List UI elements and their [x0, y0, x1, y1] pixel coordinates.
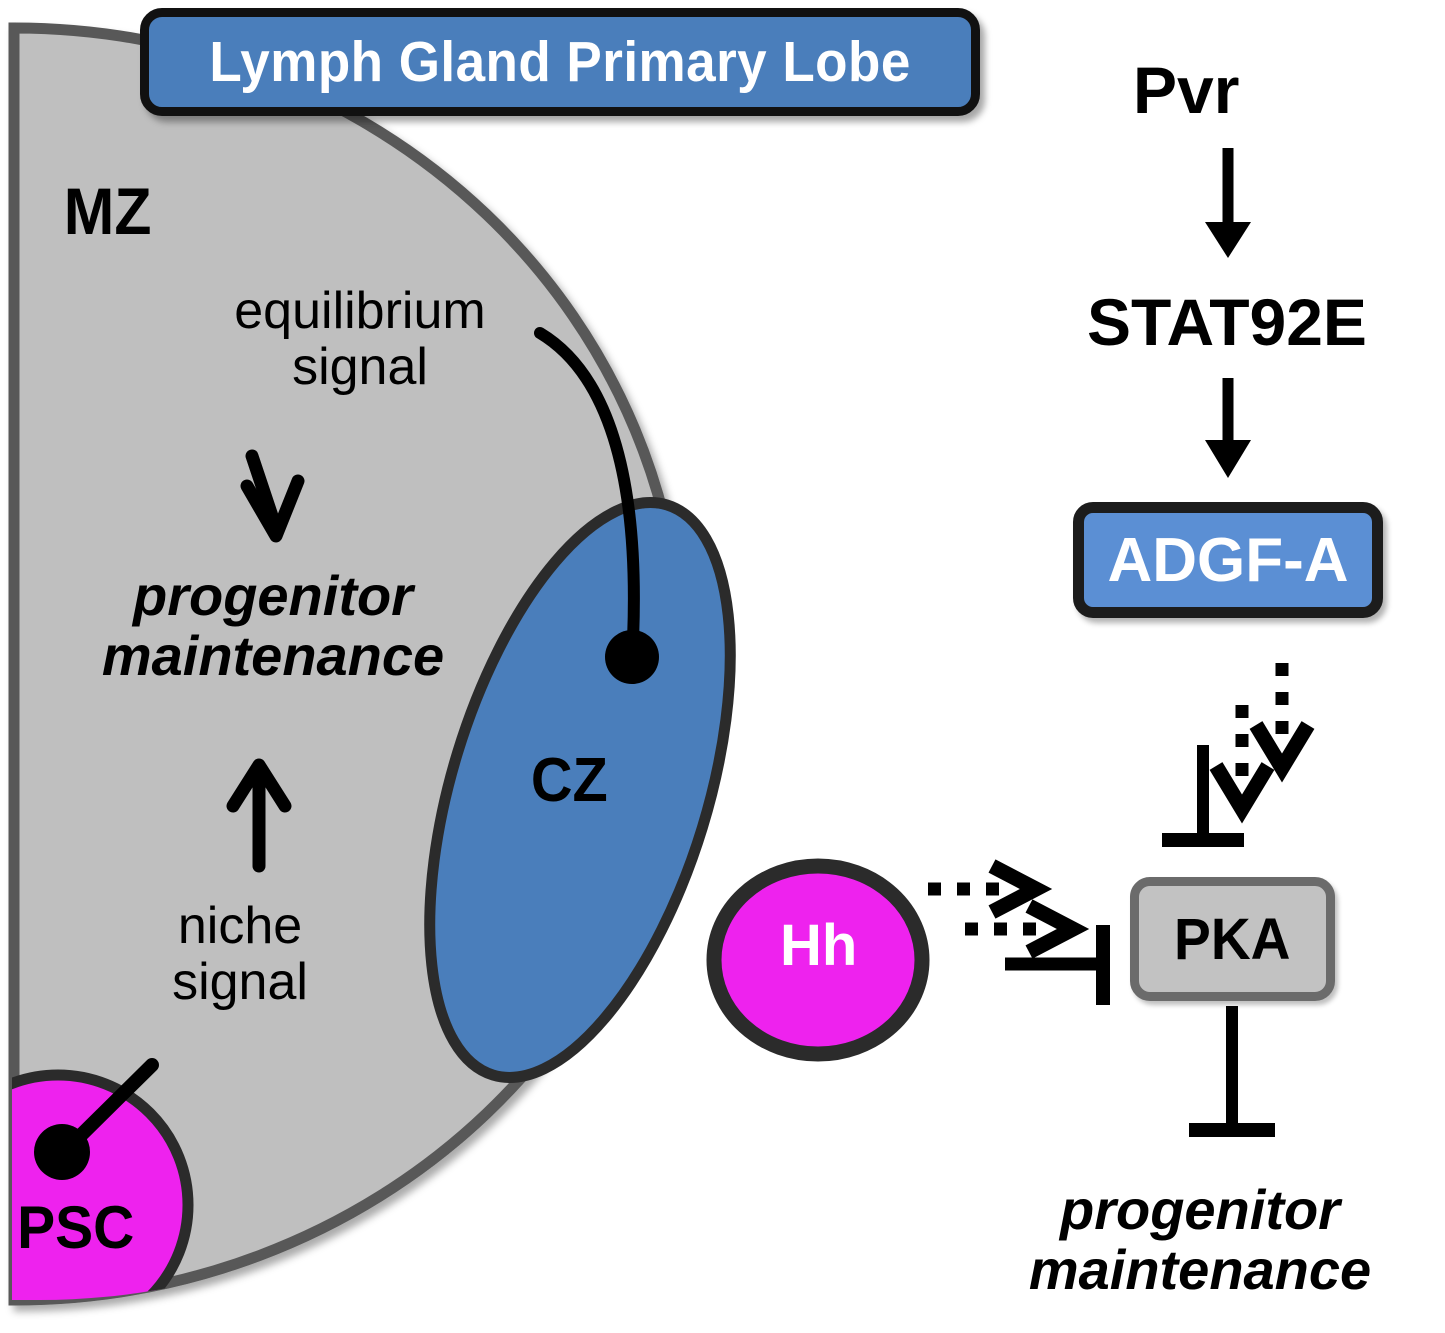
mz-zone-label: MZ — [64, 176, 152, 247]
diagram-canvas: Lymph Gland Primary Lobe — [0, 0, 1445, 1333]
psc-label: PSC — [17, 1196, 134, 1261]
pvr-node-label: Pvr — [1133, 55, 1239, 126]
cz-zone-label: CZ — [531, 748, 608, 815]
niche-signal-label: niche signal — [120, 898, 360, 1010]
adgf-a-node-label: ADGF-A — [1107, 525, 1348, 596]
stat-to-adgf-arrow-icon — [1205, 378, 1251, 478]
pka-inhibits-progenitor-icon — [1189, 1006, 1275, 1130]
adgf-dotted-arrow-2-icon — [1216, 705, 1268, 809]
equilibrium-signal-label: equilibrium signal — [195, 283, 525, 395]
niche-to-psc-dot — [34, 1124, 90, 1180]
stat92e-node-label: STAT92E — [1087, 287, 1367, 358]
hh-dotted-arrow-2-icon — [965, 906, 1073, 952]
equilibrium-down-arrow-icon — [247, 456, 298, 536]
pka-node-label: PKA — [1174, 906, 1290, 973]
hh-dotted-arrow-1-icon — [928, 866, 1036, 912]
equilibrium-to-cz-dot — [605, 630, 659, 684]
adgf-dotted-arrow-1-icon — [1256, 663, 1308, 768]
progenitor-maintenance-label-pathway: progenitor maintenance — [955, 1180, 1445, 1301]
progenitor-maintenance-label-lobe: progenitor maintenance — [58, 566, 488, 687]
equilibrium-to-cz-line — [540, 333, 634, 640]
niche-up-arrow-icon — [233, 765, 285, 866]
pvr-to-stat-arrow-icon — [1205, 148, 1251, 258]
adgf-a-node: ADGF-A — [1073, 502, 1383, 618]
hh-node-label: Hh — [780, 915, 857, 978]
pka-node: PKA — [1130, 877, 1335, 1001]
